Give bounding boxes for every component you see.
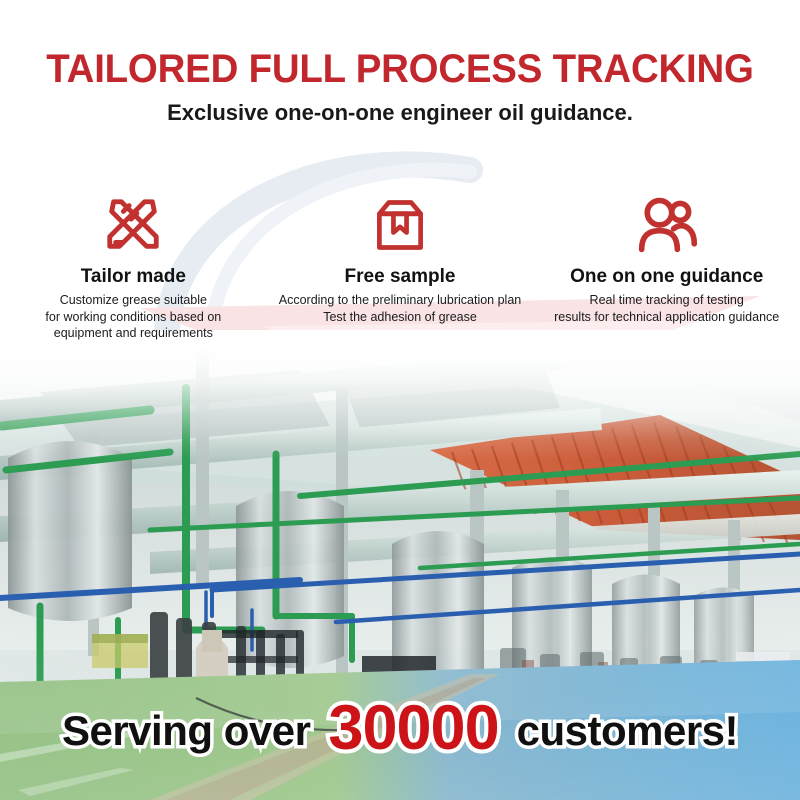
header-block: TAILORED FULL PROCESS TRACKING Exclusive…	[0, 48, 800, 125]
feature-card-one-on-one-guidance: One on one guidance Real time tracking o…	[533, 186, 800, 342]
feature-list: Tailor made Customize grease suitable fo…	[0, 186, 800, 342]
feature-card-free-sample: Free sample According to the preliminary…	[267, 186, 534, 342]
feature-description: Real time tracking of testing results fo…	[539, 292, 794, 326]
feature-title: Free sample	[273, 266, 528, 289]
package-box-icon	[273, 186, 528, 264]
ruler-pencil-icon	[6, 186, 261, 264]
feature-title: One on one guidance	[539, 266, 794, 289]
feature-description: Customize grease suitable for working co…	[6, 292, 261, 342]
two-people-icon	[539, 186, 794, 264]
promo-poster: TAILORED FULL PROCESS TRACKING Exclusive…	[0, 0, 800, 800]
customer-count-banner: Serving over 30000 customers!	[0, 688, 800, 760]
page-title: TAILORED FULL PROCESS TRACKING	[16, 48, 784, 91]
feature-description: According to the preliminary lubrication…	[273, 292, 528, 326]
banner-prefix-text: Serving over	[62, 707, 310, 755]
feature-title: Tailor made	[6, 266, 261, 289]
feature-card-tailor-made: Tailor made Customize grease suitable fo…	[0, 186, 267, 342]
page-subtitle: Exclusive one-on-one engineer oil guidan…	[0, 100, 800, 125]
banner-customer-count: 30000	[328, 692, 498, 764]
banner-suffix-text: customers!	[517, 707, 738, 755]
